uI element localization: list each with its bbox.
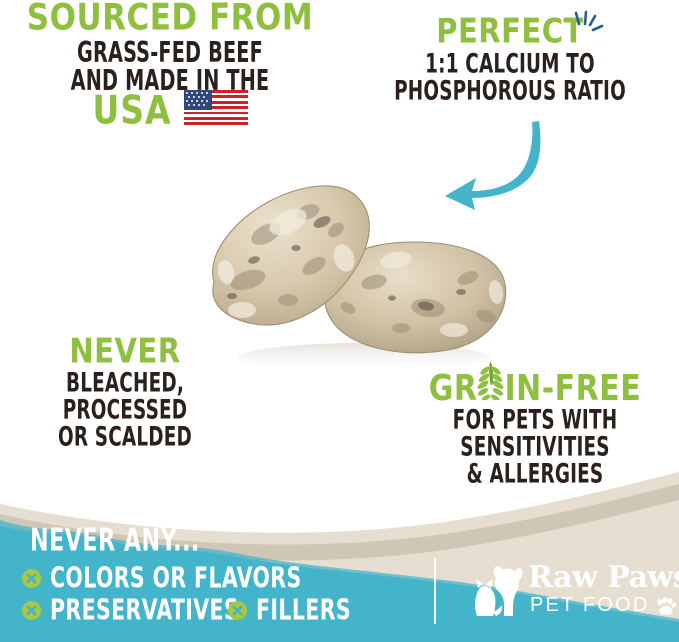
brand-name-text: Raw Paws <box>528 560 679 595</box>
claim-grain-line1: FOR PETS WITH <box>413 408 657 435</box>
exclusion-item-fillers: FILLERS <box>228 596 356 624</box>
claim-perfect-ratio: PERFECT 1:1 CALCIUM TO PHOSPHOROUS RATIO <box>360 14 660 96</box>
claim-never-body: BLEACHED, PROCESSED OR SCALDED <box>9 371 242 452</box>
brand-name: Raw Paws® <box>528 560 679 595</box>
claim-grain-headline-after: IN-FREE <box>504 372 641 407</box>
claim-grain-line2: SENSITIVITIES <box>413 435 657 462</box>
brand-tagline-text: PET FOOD <box>530 594 649 617</box>
claim-never-line1: BLEACHED, <box>9 371 242 398</box>
claim-perfect-headline: PERFECT <box>360 14 660 48</box>
claim-grain-headline: GR IN-FREE <box>404 360 666 407</box>
flag-canton <box>184 90 212 110</box>
claim-perfect-body: 1:1 CALCIUM TO PHOSPHOROUS RATIO <box>371 52 650 106</box>
x-circle-icon <box>22 601 41 620</box>
claim-grain-headline-before: GR <box>429 372 478 407</box>
exclusion-label-colors: COLORS OR FLAVORS <box>50 561 302 594</box>
claim-sourced-line1: GRASS-FED BEEF <box>12 40 328 68</box>
claim-perfect-line2: PHOSPHOROUS RATIO <box>371 79 650 106</box>
claim-never-line2: PROCESSED <box>9 398 242 425</box>
exclusion-item-colors: COLORS OR FLAVORS <box>22 564 315 592</box>
exclusion-item-preservatives: PRESERVATIVES <box>22 596 249 624</box>
sparkle-icon <box>565 8 605 42</box>
product-infographic: SOURCED FROM GRASS-FED BEEF AND MADE IN … <box>0 0 679 642</box>
claim-never-headline: NEVER <box>0 334 250 368</box>
claim-never-line3: OR SCALDED <box>9 425 242 452</box>
us-flag-icon <box>184 90 248 128</box>
brand-logo: Raw Paws® PET FOOD <box>466 556 666 626</box>
claim-never-bleached: NEVER BLEACHED, PROCESSED OR SCALDED <box>0 334 250 437</box>
dog-and-cat-silhouette-icon <box>466 560 528 622</box>
usa-label: USA <box>92 89 171 129</box>
claim-sourced-headline: SOURCED FROM <box>0 0 340 37</box>
banner-divider <box>434 558 436 624</box>
claim-sourced-from: SOURCED FROM GRASS-FED BEEF AND MADE IN … <box>0 0 340 128</box>
claim-grain-free: GR IN-FREE <box>404 360 666 474</box>
claim-perfect-line1: 1:1 CALCIUM TO <box>371 52 650 79</box>
x-circle-icon <box>22 569 41 588</box>
exclusion-label-fillers: FILLERS <box>256 593 351 626</box>
banner-heading: NEVER ANY... <box>30 523 200 559</box>
paw-print-icon <box>656 597 676 615</box>
wheat-stalk-icon <box>477 360 504 400</box>
brand-tagline: PET FOOD <box>530 594 676 617</box>
x-circle-icon <box>228 601 247 620</box>
exclusion-label-preservatives: PRESERVATIVES <box>50 593 239 626</box>
